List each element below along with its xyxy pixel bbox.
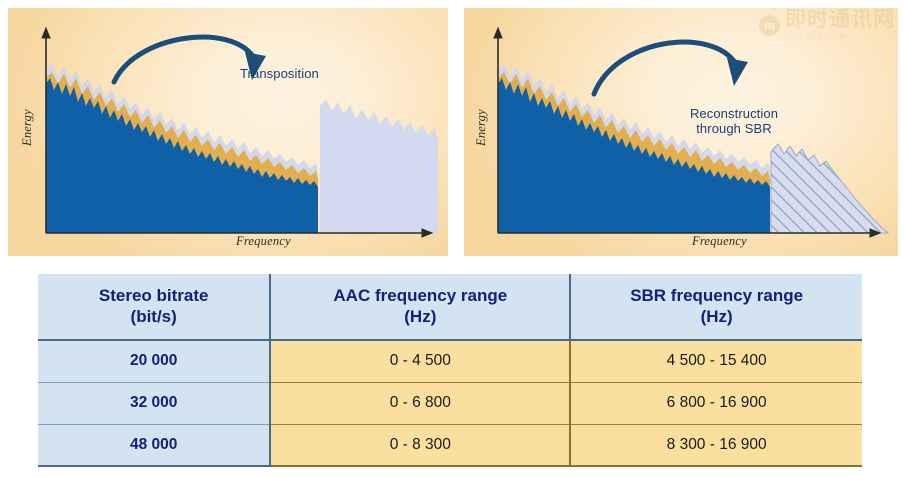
column-header-sbr-frequency-range: SBR frequency range (Hz): [570, 274, 862, 340]
table-row: 32 000 0 - 6 800 6 800 - 16 900: [38, 382, 862, 424]
header-line2: (Hz): [275, 307, 565, 327]
table-row: 48 000 0 - 8 300 8 300 - 16 900: [38, 424, 862, 466]
column-header-aac-frequency-range: AAC frequency range (Hz): [270, 274, 570, 340]
figure-root: Energy Frequency Transposition: [0, 0, 905, 477]
x-axis-label-right: Frequency: [692, 234, 747, 249]
transposed-high-band: [320, 99, 438, 233]
header-line2: (Hz): [575, 307, 858, 327]
header-line2: (bit/s): [42, 307, 265, 327]
table-head: Stereo bitrate (bit/s) AAC frequency ran…: [38, 274, 862, 340]
header-line1: SBR frequency range: [630, 286, 803, 305]
cell-bitrate: 48 000: [38, 424, 270, 466]
sbr-annotation: Reconstruction through SBR: [669, 106, 799, 137]
transposition-annotation: Transposition: [240, 66, 319, 81]
cell-bitrate: 20 000: [38, 340, 270, 382]
cell-sbr-range: 4 500 - 15 400: [570, 340, 862, 382]
header-line1: AAC frequency range: [333, 286, 507, 305]
y-axis-label-left: Energy: [20, 109, 35, 146]
table-row: 20 000 0 - 4 500 4 500 - 15 400: [38, 340, 862, 382]
sbr-arrow: [594, 42, 748, 94]
table-header-row: Stereo bitrate (bit/s) AAC frequency ran…: [38, 274, 862, 340]
chart-panel-transposition: Energy Frequency Transposition: [8, 8, 448, 256]
x-axis-label-left: Frequency: [236, 234, 291, 249]
frequency-range-table: Stereo bitrate (bit/s) AAC frequency ran…: [38, 274, 862, 467]
cell-sbr-range: 8 300 - 16 900: [570, 424, 862, 466]
cell-sbr-range: 6 800 - 16 900: [570, 382, 862, 424]
cell-aac-range: 0 - 8 300: [270, 424, 570, 466]
table-body: 20 000 0 - 4 500 4 500 - 15 400 32 000 0…: [38, 340, 862, 466]
cell-aac-range: 0 - 6 800: [270, 382, 570, 424]
sbr-reconstruction-band: [771, 144, 888, 233]
chart-panel-sbr: Energy Frequency Reconstruction through …: [464, 8, 898, 256]
header-line1: Stereo bitrate: [99, 286, 209, 305]
transposition-chart-svg: [8, 8, 448, 256]
frequency-range-table-wrapper: Stereo bitrate (bit/s) AAC frequency ran…: [38, 274, 862, 466]
column-header-stereo-bitrate: Stereo bitrate (bit/s): [38, 274, 270, 340]
y-axis-label-right: Energy: [474, 109, 489, 146]
cell-bitrate: 32 000: [38, 382, 270, 424]
cell-aac-range: 0 - 4 500: [270, 340, 570, 382]
